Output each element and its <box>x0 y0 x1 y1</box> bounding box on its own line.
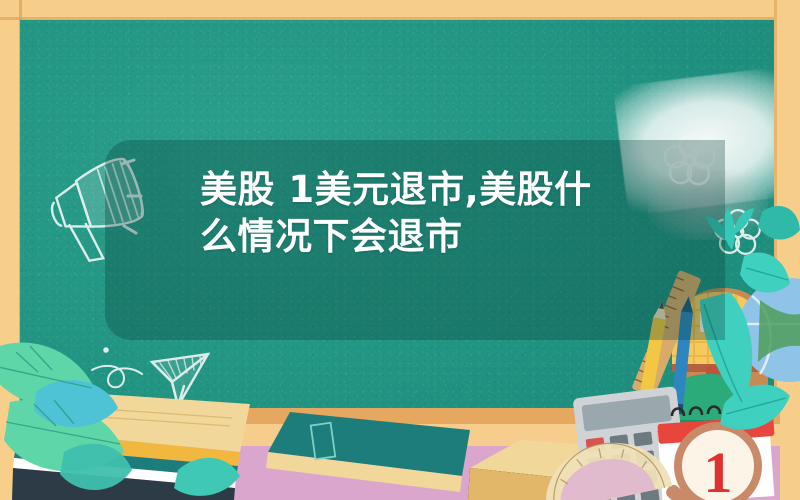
banner-image: 1 <box>0 0 800 500</box>
headline-line-1: 美股 1美元退市,美股什 <box>200 166 660 213</box>
frame-right-line <box>774 0 777 500</box>
frame-right-band <box>774 0 800 500</box>
page-title: 美股 1美元退市,美股什 么情况下会退市 <box>200 166 660 260</box>
headline-line-2: 么情况下会退市 <box>200 213 660 260</box>
